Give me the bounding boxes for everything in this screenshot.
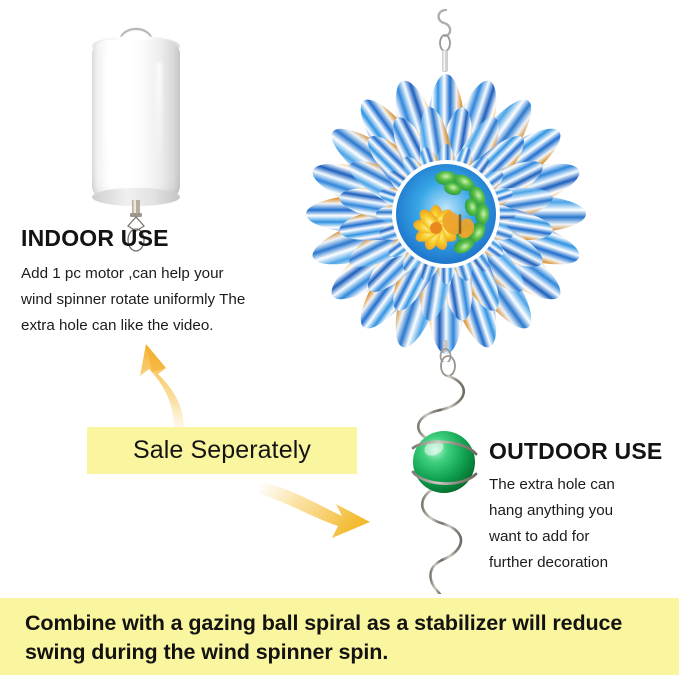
motor-figure xyxy=(84,14,188,236)
outdoor-use-block: OUTDOOR USE The extra hole can hang anyt… xyxy=(489,438,674,576)
motor-highlight xyxy=(104,52,115,172)
outdoor-use-line-3: want to add for xyxy=(489,524,674,550)
indoor-use-line-2: wind spinner rotate uniformly The xyxy=(21,287,321,313)
outdoor-use-heading: OUTDOOR USE xyxy=(489,438,674,465)
curved-arrow-right-icon xyxy=(258,472,388,552)
spinner-center-medallion xyxy=(392,160,500,268)
outdoor-use-line-4: further decoration xyxy=(489,550,674,576)
indoor-use-line-1: Add 1 pc motor ,can help your xyxy=(21,261,321,287)
bottom-callout-banner: Combine with a gazing ball spiral as a s… xyxy=(0,598,679,675)
indoor-use-heading: INDOOR USE xyxy=(21,225,321,252)
spiral-top-loop xyxy=(441,356,455,376)
wind-spinner-svg xyxy=(296,2,596,362)
spinner-top-hook xyxy=(439,10,451,72)
indoor-use-line-3: extra hole can like the video. xyxy=(21,313,321,339)
indoor-use-block: INDOOR USE Add 1 pc motor ,can help your… xyxy=(21,225,321,339)
sale-separately-text: Sale Seperately xyxy=(133,436,311,465)
bottom-callout-line-2: swing during the wind spinner spin. xyxy=(25,638,659,667)
spinner-blades xyxy=(306,74,586,354)
outdoor-use-line-1: The extra hole can xyxy=(489,472,674,498)
outdoor-use-line-2: hang anything you xyxy=(489,498,674,524)
curved-arrow-up-icon xyxy=(122,332,242,432)
wind-spinner-figure xyxy=(296,2,596,362)
sale-separately-banner: Sale Seperately xyxy=(87,427,357,474)
motor-highlight-secondary xyxy=(156,62,162,158)
bottom-callout-line-1: Combine with a gazing ball spiral as a s… xyxy=(25,609,659,638)
